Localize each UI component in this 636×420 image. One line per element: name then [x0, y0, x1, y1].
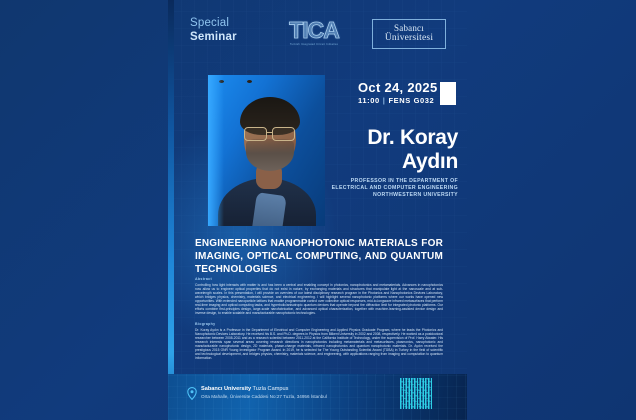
- venue-name-strong: Sabancı University: [201, 386, 251, 392]
- screenshot-canvas: Special Seminar TICA Turkish Integrated …: [0, 0, 636, 420]
- glasses-bridge: [267, 132, 272, 133]
- talk-title: ENGINEERING NANOPHOTONIC MATERIALS FOR I…: [195, 237, 443, 277]
- poster-header: Special Seminar TICA Turkish Integrated …: [168, 12, 467, 58]
- qr-code[interactable]: [400, 378, 432, 409]
- glasses-left-lens: [244, 127, 267, 141]
- speaker-name-line2: Aydın: [326, 150, 458, 174]
- event-time: 11:00: [358, 96, 380, 105]
- abstract-text: Controlling how light interacts with mat…: [195, 283, 443, 316]
- poster-footer: Sabancı University Tuzla Campus Orta Mah…: [168, 374, 467, 420]
- map-pin-icon: [187, 387, 197, 400]
- abstract-heading: Abstract: [195, 277, 443, 281]
- speaker-affiliation: PROFESSOR IN THE DEPARTMENT OF ELECTRICA…: [326, 178, 458, 200]
- sabanci-logo-line2: Üniversitesi: [385, 34, 433, 44]
- sabanci-university-logo: Sabancı Üniversitesi: [372, 19, 446, 49]
- speaker-photo: [208, 75, 325, 226]
- seminar-poster: Special Seminar TICA Turkish Integrated …: [168, 0, 467, 420]
- portrait-shirt: [251, 192, 287, 226]
- special-seminar-label: Special Seminar: [190, 16, 237, 44]
- venue-name: Sabancı University Tuzla Campus: [201, 386, 391, 393]
- venue-address: Sabancı University Tuzla Campus Orta Mah…: [201, 386, 391, 400]
- speaker-name-line1: Dr. Koray: [326, 126, 458, 150]
- biography-heading: Biography: [195, 322, 443, 326]
- speaker-name-block: Dr. Koray Aydın: [326, 126, 458, 174]
- portrait-glasses: [241, 127, 299, 141]
- tica-logo: TICA Turkish Integrated Circuit Initiati…: [278, 18, 350, 52]
- biography-section: Biography Dr. Koray Aydın is a Professor…: [195, 322, 443, 360]
- left-accent-strip: [168, 0, 174, 420]
- white-accent-block: [440, 82, 456, 105]
- portrait-right-eye: [247, 80, 252, 83]
- seminar-label: Seminar: [190, 30, 237, 44]
- photo-edge-glow: [208, 75, 224, 226]
- tica-logo-subtitle: Turkish Integrated Circuit Initiative: [278, 43, 350, 47]
- event-room: FENS G032: [388, 96, 434, 105]
- tica-logo-text: TICA: [278, 18, 350, 43]
- venue-name-rest: Tuzla Campus: [251, 386, 288, 392]
- special-label: Special: [190, 16, 237, 30]
- biography-text: Dr. Koray Aydın is a Professor in the De…: [195, 328, 443, 361]
- venue-address-line: Orta Mahalle, Üniversite Caddesi No:27 T…: [201, 394, 391, 400]
- abstract-section: Abstract Controlling how light interacts…: [195, 277, 443, 315]
- glasses-right-lens: [272, 127, 295, 141]
- portrait-beard: [246, 139, 294, 171]
